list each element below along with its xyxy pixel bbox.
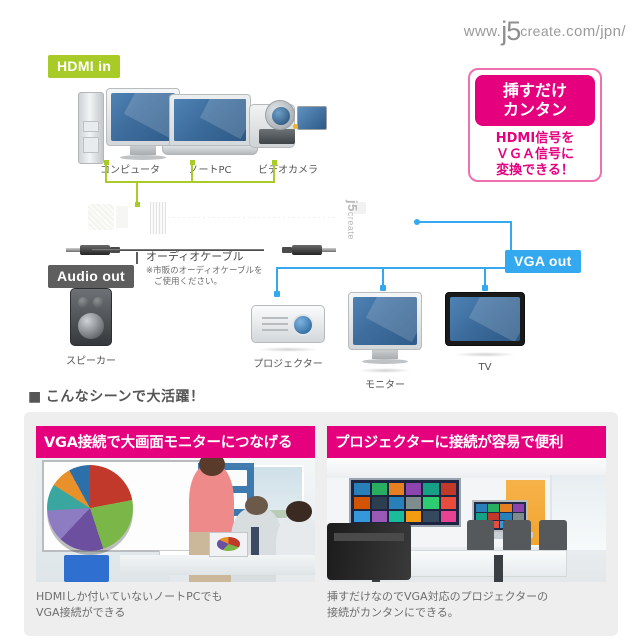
camcorder-icon [249, 98, 327, 152]
projector-icon [251, 305, 325, 343]
projected-windows-screen [349, 478, 461, 528]
product-logo-create: create [346, 212, 356, 240]
green-line-v3 [273, 162, 275, 182]
blue-line-projector [276, 267, 278, 293]
brand-5: 5 [506, 16, 520, 46]
green-line-v2 [191, 162, 193, 182]
section-bullet-icon: ■ [28, 389, 42, 405]
callout-caption-line2: カンタン [475, 100, 595, 119]
pie-chart-on-screen [47, 465, 133, 551]
callout-caption: 挿すだけ カンタン [475, 75, 595, 126]
panel-caption-vga-line1: HDMIしか付いていないノートPCでも [36, 589, 315, 605]
callout-body: HDMI信号を ＶＧＡ信号に 変換できる！ [475, 131, 595, 179]
photo-conference-room [327, 458, 606, 582]
device-tv: TV [445, 292, 525, 373]
blue-line-bus [276, 267, 512, 269]
device-label-speaker: スピーカー [58, 352, 124, 367]
audio-cable-note-line2: ご使用ください。 [146, 277, 263, 288]
panel-caption-vga-line2: VGA接続ができる [36, 605, 315, 621]
blue-line-monitor [382, 267, 384, 287]
pc-tower-icon [78, 92, 104, 164]
speaker-icon [70, 288, 112, 346]
product-logo-j5: j5 [345, 200, 360, 212]
badge-vga-out: VGA out [505, 250, 581, 273]
callout-body-line2: ＶＧＡ信号に [475, 147, 595, 163]
blue-line-from-adapter [418, 221, 512, 223]
monitor-icon [348, 292, 422, 364]
device-label-tv: TV [445, 362, 525, 373]
section-title: ■こんなシーンで大活躍！ [28, 386, 205, 406]
badge-hdmi-in: HDMI in [48, 55, 120, 78]
device-label-projector: プロジェクター [240, 355, 336, 370]
infographic-page: www.j5create.com/jpn/ HDMI in VGA out Au… [0, 0, 640, 644]
panel-caption-projector-line2: 接続がカンタンにできる。 [327, 605, 606, 621]
blue-line-vga-down [510, 221, 512, 269]
callout-caption-line1: 挿すだけ [475, 81, 595, 100]
panel-caption-projector: 挿すだけなのでVGA対応のプロジェクターの 接続がカンタンにできる。 [327, 582, 606, 621]
tv-icon [445, 292, 525, 346]
audio-drop-line [136, 252, 138, 264]
audio-cable-title: オーディオケーブル [146, 248, 263, 264]
device-speaker: スピーカー [58, 288, 124, 367]
use-case-panel-vga: VGA接続で大画面モニターにつなげる HDMIしか付いていないノートPCでも [36, 426, 315, 622]
photo-presentation-meeting [36, 458, 315, 582]
audio-cable-note: オーディオケーブル ※市販のオーディオケーブルを ご使用ください。 [146, 248, 263, 289]
blue-dot-projector [274, 291, 280, 297]
green-line-v1 [105, 162, 107, 182]
blue-dot-tv [482, 285, 488, 291]
product-logo: j5create [345, 200, 360, 240]
use-case-panel-projector: プロジェクターに接続が容易で便利 [327, 426, 606, 622]
brand-create: create [520, 23, 561, 39]
blue-dot-monitor [380, 285, 386, 291]
badge-audio-out: Audio out [48, 265, 134, 288]
audio-jack-right [280, 245, 336, 255]
site-url-suffix: .com/jpn/ [562, 23, 626, 40]
panel-heading-vga: VGA接続で大画面モニターにつなげる [36, 426, 315, 458]
device-monitor: モニター [348, 292, 422, 391]
section-title-text: こんなシーンで大活躍！ [46, 389, 205, 405]
device-label-camera: ビデオカメラ [240, 161, 336, 176]
site-url-prefix: www. [464, 23, 501, 40]
device-label-monitor: モニター [348, 376, 422, 391]
callout-body-line1: HDMI信号を [475, 131, 595, 147]
panel-caption-vga: HDMIしか付いていないノートPCでも VGA接続ができる [36, 582, 315, 621]
device-projector: プロジェクター [240, 305, 336, 370]
callout-body-line3: 変換できる！ [475, 163, 595, 179]
feature-callout: 挿すだけ カンタン HDMI信号を ＶＧＡ信号に 変換できる！ [468, 68, 602, 182]
audio-cable-note-line1: ※市販のオーディオケーブルを [146, 266, 263, 277]
panel-caption-projector-line1: 挿すだけなのでVGA対応のプロジェクターの [327, 589, 606, 605]
use-case-panels: VGA接続で大画面モニターにつなげる HDMIしか付いていないノートPCでも [24, 412, 618, 636]
green-line-bus [105, 181, 275, 183]
blue-line-tv [484, 267, 486, 287]
site-url: www.j5create.com/jpn/ [464, 16, 626, 47]
panel-heading-projector: プロジェクターに接続が容易で便利 [327, 426, 606, 458]
device-video-camera: ビデオカメラ [240, 86, 336, 176]
hdmi-to-vga-adapter [88, 200, 338, 240]
windows-tiles [354, 483, 456, 523]
